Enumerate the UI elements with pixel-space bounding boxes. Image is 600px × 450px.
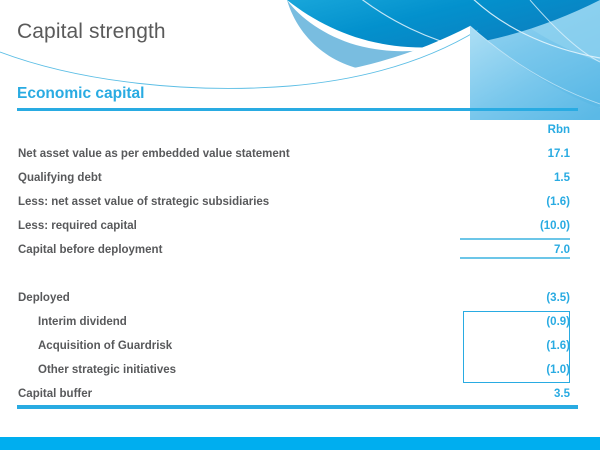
wave-light-band	[404, 0, 600, 108]
column-header-rbn: Rbn	[548, 118, 570, 142]
slide-canvas: Capital strength Economic capital Rbn Ne…	[0, 0, 600, 450]
row-value: 1.5	[554, 166, 570, 190]
row-value: (1.6)	[546, 190, 570, 214]
wave-light-tail-edge	[470, 26, 600, 104]
section-heading: Economic capital	[17, 85, 144, 103]
wave-dark-lobe	[287, 0, 470, 72]
wave-highlight-line-1	[355, 0, 468, 49]
table-row: Deployed (3.5)	[0, 286, 600, 310]
wave-dark-band	[287, 0, 600, 47]
section-divider	[17, 108, 578, 111]
row-value: 3.5	[554, 382, 570, 406]
row-value: 17.1	[548, 142, 570, 166]
row-label: Capital buffer	[18, 382, 92, 406]
table-row: Less: net asset value of strategic subsi…	[0, 190, 600, 214]
row-label: Qualifying debt	[18, 166, 102, 190]
row-label: Deployed	[18, 286, 70, 310]
table-row-subtotal: Capital before deployment 7.0	[0, 238, 600, 262]
row-label: Capital before deployment	[18, 238, 162, 262]
table-row: Net asset value as per embedded value st…	[0, 142, 600, 166]
row-label: Interim dividend	[38, 310, 127, 334]
row-label: Other strategic initiatives	[38, 358, 176, 382]
wave-light-tail	[470, 26, 600, 120]
row-label: Net asset value as per embedded value st…	[18, 142, 290, 166]
row-value: (10.0)	[540, 214, 570, 238]
table-header-row: Rbn	[0, 118, 600, 142]
table-spacer-row	[0, 262, 600, 286]
table-row: Less: required capital (10.0)	[0, 214, 600, 238]
row-value: (3.5)	[546, 286, 570, 310]
wave-highlight-line-2	[468, 0, 600, 58]
footer-accent-bar	[0, 437, 600, 450]
wave-highlight-line-3	[530, 0, 600, 62]
row-label: Less: required capital	[18, 214, 137, 238]
page-title: Capital strength	[17, 20, 166, 44]
table-bottom-divider	[17, 405, 578, 409]
row-label: Acquisition of Guardrisk	[38, 334, 172, 358]
table-row-total: Capital buffer 3.5	[0, 382, 600, 406]
wave-pale-band	[496, 0, 600, 62]
row-value: 7.0	[554, 238, 570, 262]
row-label: Less: net asset value of strategic subsi…	[18, 190, 269, 214]
table-row: Qualifying debt 1.5	[0, 166, 600, 190]
deployed-values-callout-box	[463, 311, 570, 383]
